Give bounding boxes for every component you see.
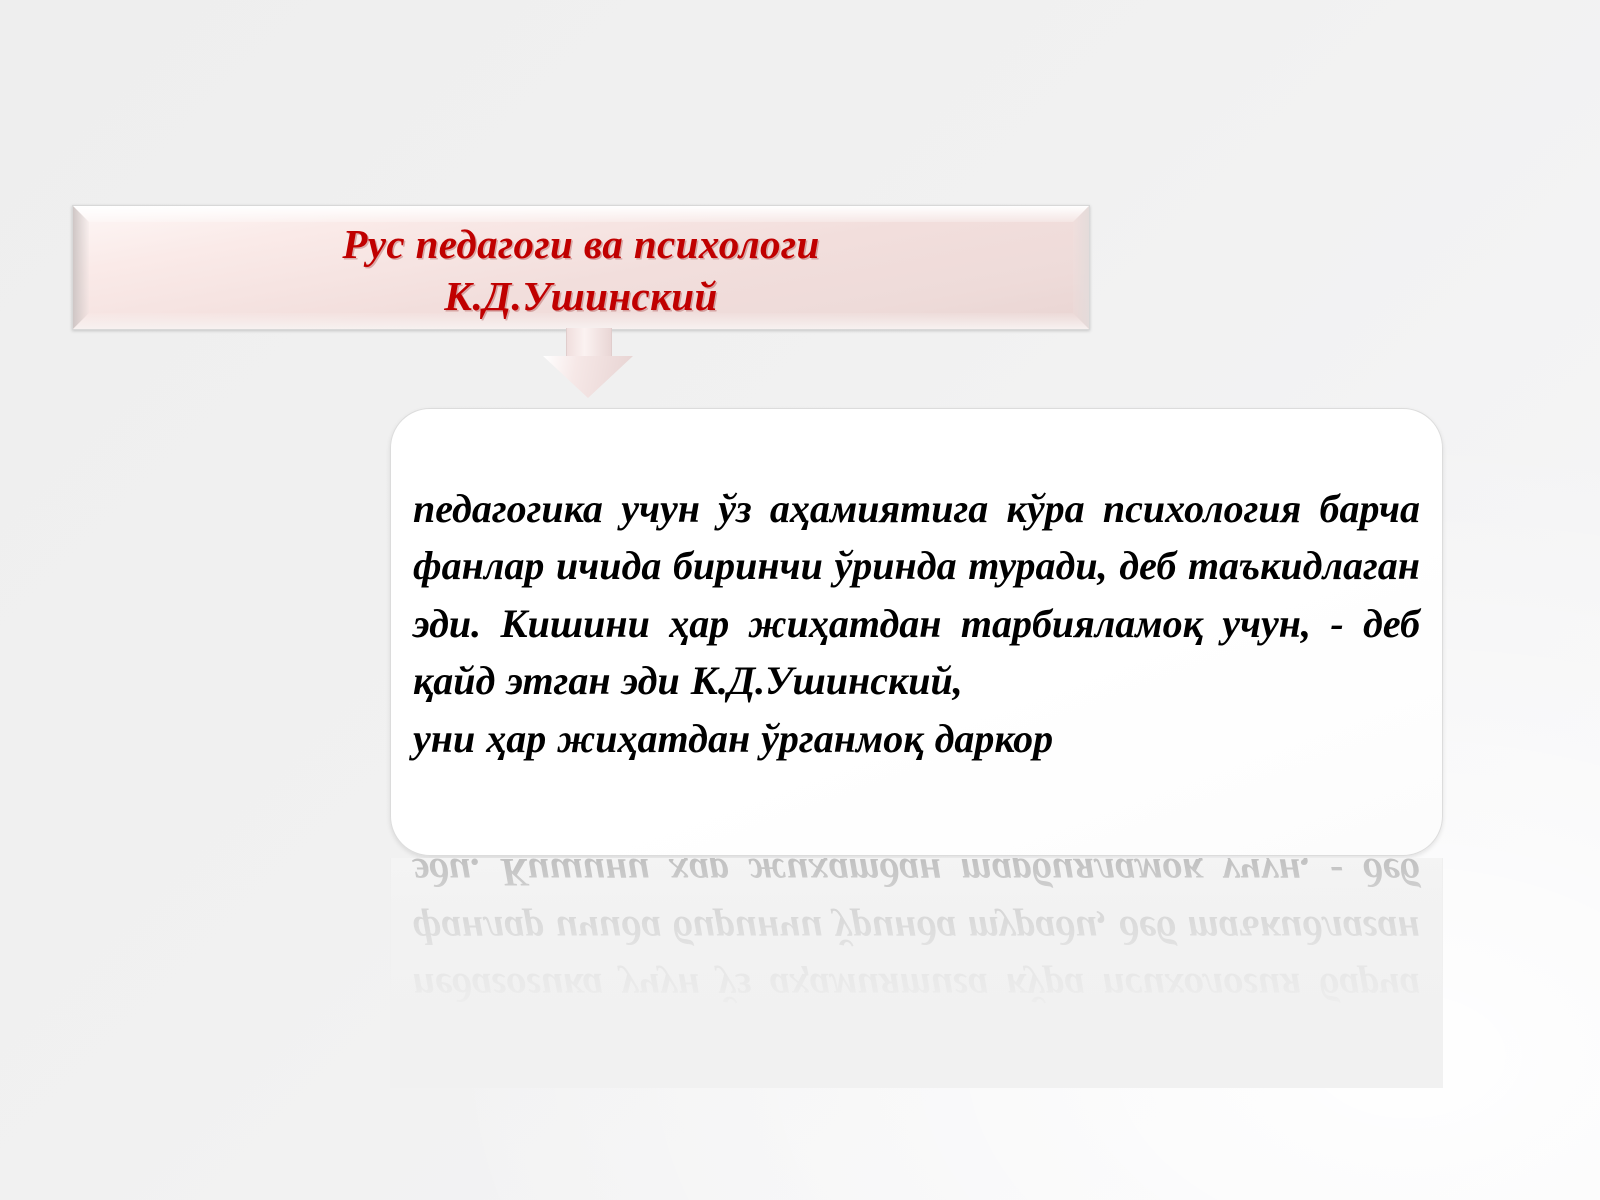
- arrow-shaft: [566, 328, 612, 358]
- title-banner[interactable]: Рус педагоги ва психологи К.Д.Ушинский: [72, 205, 1090, 330]
- body-paragraph: педагогика учун ўз аҳамиятига кўра психо…: [413, 422, 1420, 825]
- reflection-text-main: педагогика учун ўз аҳамиятига кўра психо…: [413, 858, 1420, 1010]
- reflection-text: педагогика учун ўз аҳамиятига кўра психо…: [413, 858, 1420, 1074]
- arrow-down-icon: [543, 328, 633, 398]
- reflection-mirror: педагогика учун ўз аҳамиятига кўра психо…: [390, 858, 1443, 1088]
- arrow-head: [543, 356, 633, 398]
- reflection-fade-overlay: [390, 858, 1443, 1088]
- body-paragraph-main: педагогика учун ўз аҳамиятига кўра психо…: [413, 486, 1420, 704]
- content-box[interactable]: педагогика учун ўз аҳамиятига кўра психо…: [390, 408, 1443, 856]
- slide-canvas: Рус педагоги ва психологи К.Д.Ушинский п…: [0, 0, 1600, 1200]
- slide-title: Рус педагоги ва психологи К.Д.Ушинский: [73, 206, 1089, 323]
- body-paragraph-last-line: уни ҳар жиҳатдан ўрганмоқ даркор: [413, 710, 1420, 768]
- content-box-reflection: педагогика учун ўз аҳамиятига кўра психо…: [390, 858, 1443, 1088]
